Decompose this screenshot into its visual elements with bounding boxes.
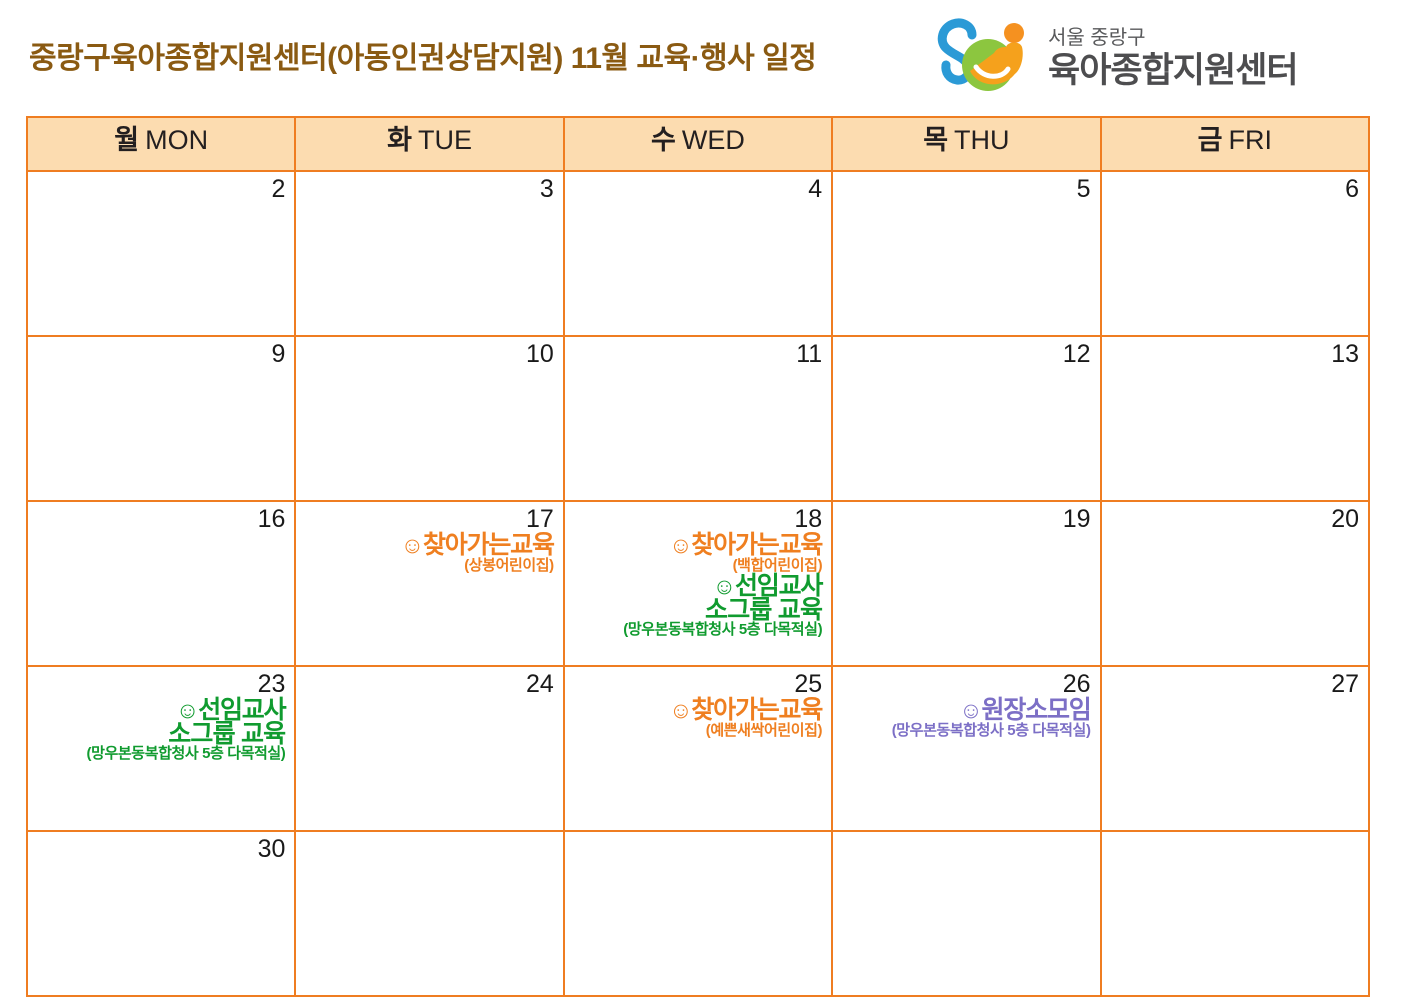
calendar-week-row: 23☺선임교사소그룹 교육(망우본동복합청사 5층 다목적실)2425☺찾아가는…	[27, 666, 1369, 831]
event-title-line2: 소그룹 교육	[571, 598, 822, 624]
day-cell-content: 13	[1102, 337, 1368, 500]
sci-swirl-logo-icon	[928, 15, 1040, 101]
day-number: 9	[34, 341, 285, 367]
calendar-day-cell[interactable]: 26☺원장소모임(망우본동복합청사 5층 다목적실)	[832, 666, 1100, 831]
page-title: 중랑구육아종합지원센터(아동인권상담지원) 11월 교육·행사 일정	[29, 44, 816, 74]
day-number: 19	[839, 506, 1090, 532]
calendar-day-cell[interactable]: 12	[832, 336, 1100, 501]
calendar-day-cell[interactable]: 2	[27, 171, 295, 336]
calendar-day-cell[interactable]: 27	[1101, 666, 1369, 831]
day-number: 12	[839, 341, 1090, 367]
smiley-icon: ☺	[669, 532, 691, 558]
day-cell-content: 27	[1102, 667, 1368, 830]
day-cell-content: 2	[28, 172, 294, 335]
calendar-day-cell[interactable]: 17☺찾아가는교육(상봉어린이집)	[295, 501, 563, 666]
calendar-day-cell[interactable]: 6	[1101, 171, 1369, 336]
calendar-day-cell[interactable]	[564, 831, 832, 996]
event-title-text: 원장소모임	[982, 696, 1091, 724]
calendar-day-cell[interactable]: 11	[564, 336, 832, 501]
day-number: 20	[1108, 506, 1359, 532]
event-title-text: 찾아가는교육	[423, 531, 554, 559]
day-number: 4	[571, 176, 822, 202]
calendar-day-cell[interactable]: 19	[832, 501, 1100, 666]
day-cell-content: 23☺선임교사소그룹 교육(망우본동복합청사 5층 다목적실)	[28, 667, 294, 830]
calendar-day-cell[interactable]: 18☺찾아가는교육(백합어린이집)☺선임교사소그룹 교육(망우본동복합청사 5층…	[564, 501, 832, 666]
calendar-day-cell[interactable]: 16	[27, 501, 295, 666]
event-title: ☺찾아가는교육	[571, 698, 822, 724]
calendar-week-row: 910111213	[27, 336, 1369, 501]
day-cell-content: 10	[296, 337, 562, 500]
dow-english: FRI	[1228, 125, 1272, 155]
day-number: 17	[302, 506, 553, 532]
calendar-day-cell[interactable]: 24	[295, 666, 563, 831]
day-cell-content: 18☺찾아가는교육(백합어린이집)☺선임교사소그룹 교육(망우본동복합청사 5층…	[565, 502, 831, 665]
event-location: (망우본동복합청사 5층 다목적실)	[571, 622, 822, 637]
calendar-header-thu: 목THU	[832, 117, 1100, 171]
day-cell-content: 17☺찾아가는교육(상봉어린이집)	[296, 502, 562, 665]
day-cell-content: 4	[565, 172, 831, 335]
day-number: 26	[839, 671, 1090, 697]
calendar-event[interactable]: ☺찾아가는교육(예쁜새싹어린이집)	[571, 698, 822, 738]
day-number: 6	[1108, 176, 1359, 202]
calendar-header-tue: 화TUE	[295, 117, 563, 171]
center-logo: 서울 중랑구 육아종합지원센터	[928, 12, 1348, 104]
day-cell-content: 12	[833, 337, 1099, 500]
day-number: 27	[1108, 671, 1359, 697]
event-title: ☺찾아가는교육	[302, 533, 553, 559]
calendar-header-mon: 월MON	[27, 117, 295, 171]
calendar-day-cell[interactable]: 3	[295, 171, 563, 336]
day-cell-content	[296, 832, 562, 995]
day-cell-content: 26☺원장소모임(망우본동복합청사 5층 다목적실)	[833, 667, 1099, 830]
event-location: (망우본동복합청사 5층 다목적실)	[839, 723, 1090, 738]
event-location: (백합어린이집)	[571, 558, 822, 573]
smiley-icon: ☺	[959, 697, 981, 723]
calendar-event[interactable]: ☺원장소모임(망우본동복합청사 5층 다목적실)	[839, 698, 1090, 738]
dow-korean: 화	[387, 125, 412, 155]
day-cell-content	[1102, 832, 1368, 995]
day-cell-content: 3	[296, 172, 562, 335]
calendar-day-cell[interactable]	[1101, 831, 1369, 996]
dow-english: WED	[682, 125, 745, 155]
day-cell-content: 19	[833, 502, 1099, 665]
dow-english: MON	[145, 125, 208, 155]
day-number: 25	[571, 671, 822, 697]
event-title-text: 찾아가는교육	[691, 531, 822, 559]
calendar-header-wed: 수WED	[564, 117, 832, 171]
event-location: (상봉어린이집)	[302, 558, 553, 573]
day-number: 3	[302, 176, 553, 202]
calendar-week-row: 23456	[27, 171, 1369, 336]
dow-korean: 금	[1198, 125, 1223, 155]
day-number: 24	[302, 671, 553, 697]
day-cell-content: 20	[1102, 502, 1368, 665]
day-number: 11	[571, 341, 822, 367]
calendar-header-fri: 금FRI	[1101, 117, 1369, 171]
smiley-icon: ☺	[669, 697, 691, 723]
day-number: 16	[34, 506, 285, 532]
day-cell-content: 16	[28, 502, 294, 665]
dow-english: THU	[954, 125, 1010, 155]
day-number: 5	[839, 176, 1090, 202]
page-header: 중랑구육아종합지원센터(아동인권상담지원) 11월 교육·행사 일정 서울 중랑…	[0, 0, 1403, 112]
dow-korean: 수	[651, 125, 676, 155]
day-number: 30	[34, 836, 285, 862]
day-cell-content: 24	[296, 667, 562, 830]
dow-korean: 월	[114, 125, 139, 155]
calendar-day-cell[interactable]: 5	[832, 171, 1100, 336]
event-title: ☺원장소모임	[839, 698, 1090, 724]
logo-line-center: 육아종합지원센터	[1048, 53, 1298, 88]
day-cell-content: 9	[28, 337, 294, 500]
calendar-day-cell[interactable]: 20	[1101, 501, 1369, 666]
calendar-day-cell[interactable]: 23☺선임교사소그룹 교육(망우본동복합청사 5층 다목적실)	[27, 666, 295, 831]
calendar-event[interactable]: ☺찾아가는교육(상봉어린이집)	[302, 533, 553, 573]
calendar-event[interactable]: ☺선임교사소그룹 교육(망우본동복합청사 5층 다목적실)	[34, 698, 285, 761]
calendar-day-cell[interactable]: 30	[27, 831, 295, 996]
calendar-week-row: 30	[27, 831, 1369, 996]
event-title-text: 찾아가는교육	[691, 696, 822, 724]
dow-english: TUE	[418, 125, 472, 155]
day-cell-content: 25☺찾아가는교육(예쁜새싹어린이집)	[565, 667, 831, 830]
day-number: 10	[302, 341, 553, 367]
day-cell-content	[565, 832, 831, 995]
day-number: 13	[1108, 341, 1359, 367]
calendar-day-cell[interactable]: 4	[564, 171, 832, 336]
smiley-icon: ☺	[401, 532, 423, 558]
logo-line-district: 서울 중랑구	[1048, 28, 1298, 48]
logo-wordmark: 서울 중랑구 육아종합지원센터	[1048, 28, 1298, 88]
day-cell-content: 11	[565, 337, 831, 500]
calendar-event[interactable]: ☺선임교사소그룹 교육(망우본동복합청사 5층 다목적실)	[571, 574, 822, 637]
day-number: 2	[34, 176, 285, 202]
day-cell-content: 30	[28, 832, 294, 995]
day-cell-content	[833, 832, 1099, 995]
day-cell-content: 5	[833, 172, 1099, 335]
calendar-day-cell[interactable]: 9	[27, 336, 295, 501]
calendar-event[interactable]: ☺찾아가는교육(백합어린이집)	[571, 533, 822, 573]
event-location: (예쁜새싹어린이집)	[571, 723, 822, 738]
day-number: 18	[571, 506, 822, 532]
calendar-day-cell[interactable]	[832, 831, 1100, 996]
calendar-day-cell[interactable]: 10	[295, 336, 563, 501]
day-number: 23	[34, 671, 285, 697]
dow-korean: 목	[923, 125, 948, 155]
event-title-line2: 소그룹 교육	[34, 722, 285, 748]
calendar-header-row: 월MON화TUE수WED목THU금FRI	[27, 117, 1369, 171]
calendar-grid: 월MON화TUE수WED목THU금FRI 234569101112131617☺…	[26, 116, 1370, 997]
event-title: ☺찾아가는교육	[571, 533, 822, 559]
calendar-day-cell[interactable]	[295, 831, 563, 996]
day-cell-content: 6	[1102, 172, 1368, 335]
event-location: (망우본동복합청사 5층 다목적실)	[34, 746, 285, 761]
calendar-day-cell[interactable]: 25☺찾아가는교육(예쁜새싹어린이집)	[564, 666, 832, 831]
calendar-day-cell[interactable]: 13	[1101, 336, 1369, 501]
calendar-week-row: 1617☺찾아가는교육(상봉어린이집)18☺찾아가는교육(백합어린이집)☺선임교…	[27, 501, 1369, 666]
